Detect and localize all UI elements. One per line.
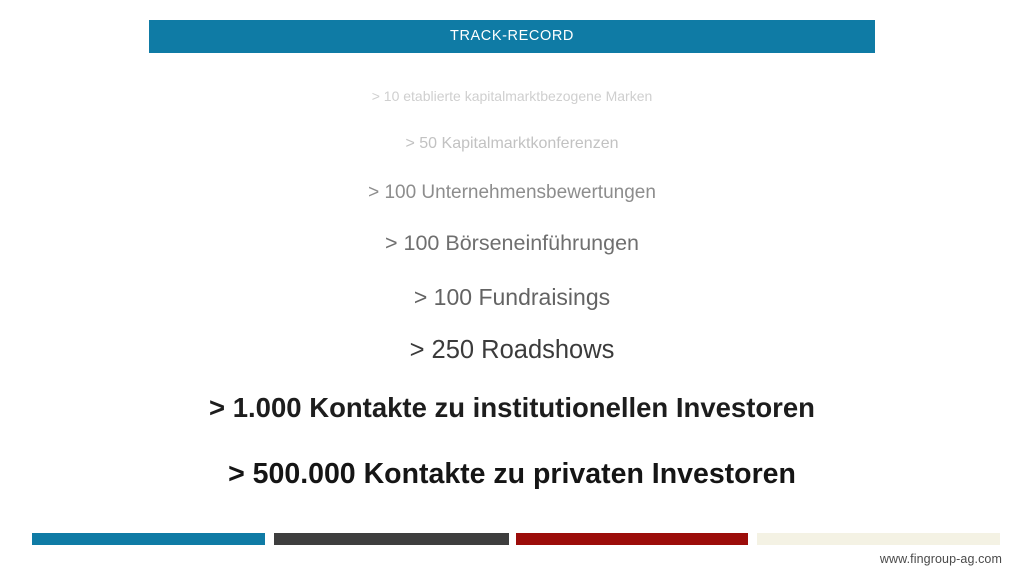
page-title: TRACK-RECORD — [450, 29, 574, 44]
list-item: > 100 Fundraisings — [0, 286, 1024, 309]
footer-bar-dark-gray — [274, 533, 509, 545]
slide-title-bar: TRACK-RECORD — [149, 20, 875, 53]
list-item: > 250 Roadshows — [0, 338, 1024, 364]
footer-bar-blue — [32, 533, 265, 545]
list-item: > 10 etablierte kapitalmarktbezogene Mar… — [0, 89, 1024, 103]
footer-bar-cream — [757, 533, 1000, 545]
list-item: > 50 Kapitalmarktkonferenzen — [0, 136, 1024, 152]
list-item: > 100 Börseneinführungen — [0, 233, 1024, 255]
list-item: > 100 Unternehmensbewertungen — [0, 183, 1024, 202]
footer-website-url: www.fingroup-ag.com — [880, 553, 1002, 566]
list-item: > 1.000 Kontakte zu institutionellen Inv… — [0, 394, 1024, 422]
track-record-list: > 10 etablierte kapitalmarktbezogene Mar… — [0, 72, 1024, 512]
footer-bar-dark-red — [516, 533, 748, 545]
list-item: > 500.000 Kontakte zu privaten Investore… — [0, 460, 1024, 489]
presentation-slide: TRACK-RECORD > 10 etablierte kapitalmark… — [0, 0, 1024, 576]
footer-color-bars — [0, 533, 1024, 545]
